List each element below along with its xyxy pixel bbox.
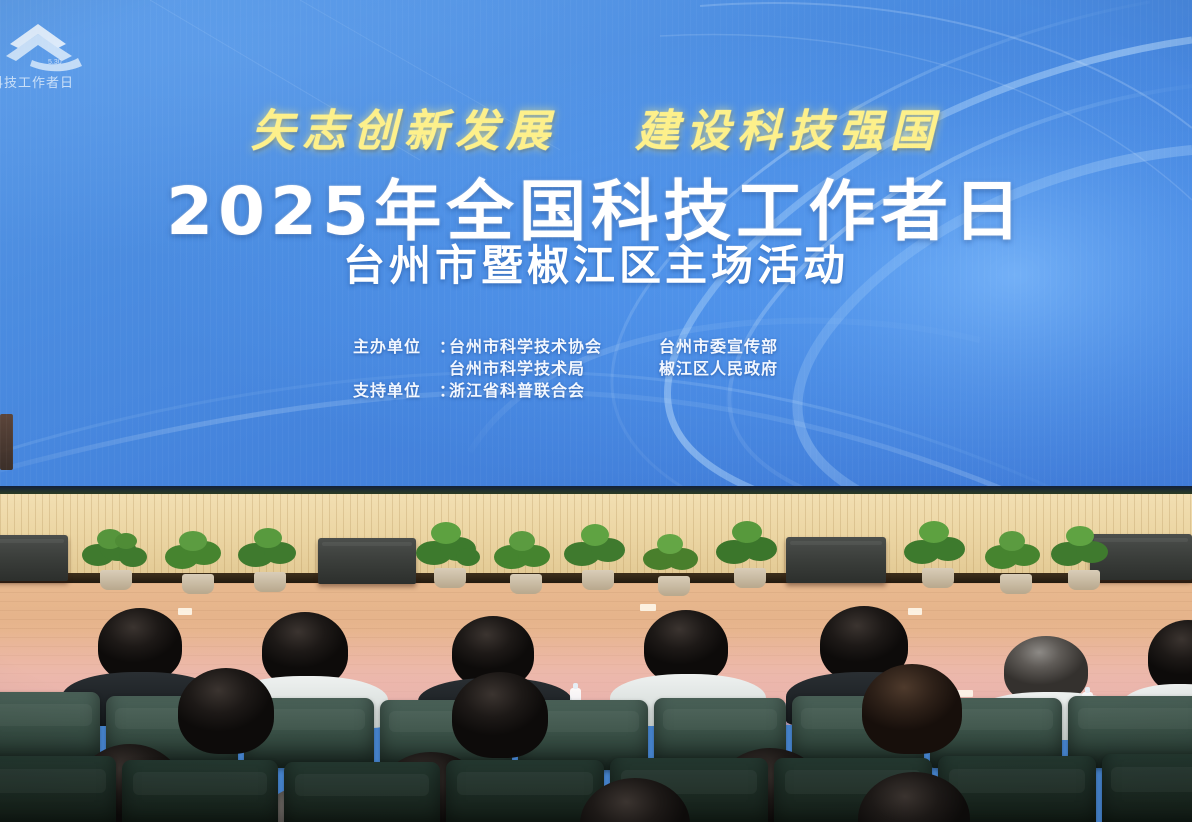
floor-paper: [178, 608, 192, 615]
stage-potted-plant: [560, 520, 634, 590]
host-label: 主办单位: [353, 336, 439, 358]
host-colon: ：: [439, 336, 449, 358]
stage-potted-plant: [160, 524, 234, 594]
left-edge-object: [0, 414, 13, 470]
plant-foliage-icon: [488, 523, 562, 579]
stage-potted-plant: [1046, 520, 1120, 590]
stage-potted-plant: [78, 520, 152, 590]
organizer-row: 支持单位 ： 浙江省科普联合会: [353, 380, 839, 402]
logo-label: 科技工作者日: [0, 72, 74, 91]
auditorium-seat: [122, 760, 278, 822]
stage-potted-plant: [712, 518, 786, 588]
slogan-left: 矢志创新发展: [251, 95, 557, 159]
stage-potted-plant: [232, 522, 306, 592]
plant-foliage-icon: [412, 517, 486, 573]
stage-monitor-speaker: [786, 537, 886, 583]
organizer-row: 主办单位 ： 台州市科学技术协会 台州市委宣传部: [353, 336, 839, 358]
host-org-2a: 台州市科学技术局: [449, 358, 659, 380]
plant-foliage-icon: [900, 517, 974, 573]
stage-monitor-speaker: [318, 538, 416, 584]
auditorium-seat: [446, 760, 604, 822]
plant-pot: [254, 572, 286, 592]
logo-date-badge: 5.30: [48, 59, 62, 66]
plant-foliage-icon: [1046, 519, 1120, 575]
plant-pot: [922, 568, 954, 588]
plant-foliage-icon: [160, 523, 234, 579]
plant-foliage-icon: [978, 523, 1052, 579]
plant-pot: [434, 568, 466, 588]
stage-potted-plant: [900, 518, 974, 588]
auditorium-seat: [1102, 754, 1192, 822]
floor-paper: [640, 604, 656, 611]
stage-potted-plant: [978, 524, 1052, 594]
audience-head: [178, 668, 274, 754]
organizer-row: 台州市科学技术局 椒江区人民政府: [353, 358, 839, 380]
support-org-1a: 浙江省科普联合会: [449, 380, 659, 402]
plant-foliage-icon: [78, 519, 152, 575]
plant-foliage-icon: [232, 521, 306, 577]
plant-pot: [100, 570, 132, 590]
stage-potted-plant: [636, 526, 710, 596]
chevron-emblem-logo-icon: [2, 14, 90, 72]
auditorium-seat: [284, 762, 440, 822]
audience-head: [862, 664, 962, 754]
host-colon-spacer: [439, 358, 449, 380]
event-logo: 5.30 科技工作者日: [2, 14, 110, 100]
audience-head: [98, 608, 182, 682]
plant-foliage-icon: [560, 519, 634, 575]
stage-potted-plant: [488, 524, 562, 594]
plant-pot: [582, 570, 614, 590]
event-title-sub: 台州市暨椒江区主场活动: [0, 232, 1192, 293]
stage-potted-plant: [412, 518, 486, 588]
host-org-1b: 台州市委宣传部: [659, 336, 839, 358]
slogan-row: 矢志创新发展 建设科技强国: [0, 95, 1192, 159]
audience-head: [644, 610, 728, 684]
host-label-spacer: [353, 358, 439, 380]
plant-pot: [1000, 574, 1032, 594]
support-org-1b: [659, 380, 839, 402]
host-org-2b: 椒江区人民政府: [659, 358, 839, 380]
plant-pot: [658, 576, 690, 596]
auditorium-seat: [0, 756, 116, 822]
support-colon: ：: [439, 380, 449, 402]
plant-pot: [734, 568, 766, 588]
stage-monitor-speaker: [0, 535, 68, 581]
slogan-right: 建设科技强国: [635, 95, 941, 159]
plant-pot: [1068, 570, 1100, 590]
plant-foliage-icon: [712, 517, 786, 573]
floor-paper: [908, 608, 922, 615]
plant-pot: [182, 574, 214, 594]
stage-led-backdrop: 5.30 科技工作者日 矢志创新发展 建设科技强国 2025年全国科技工作者日 …: [0, 0, 1192, 492]
stage-top-shadow: [0, 486, 1192, 494]
support-label: 支持单位: [353, 380, 439, 402]
organizer-block: 主办单位 ： 台州市科学技术协会 台州市委宣传部 台州市科学技术局 椒江区人民政…: [0, 336, 1192, 402]
plant-foliage-icon: [636, 525, 710, 581]
conference-photo-scene: 5.30 科技工作者日 矢志创新发展 建设科技强国 2025年全国科技工作者日 …: [0, 0, 1192, 822]
audience-head: [452, 672, 548, 758]
auditorium-seat: [0, 692, 100, 766]
plant-pot: [510, 574, 542, 594]
host-org-1a: 台州市科学技术协会: [449, 336, 659, 358]
